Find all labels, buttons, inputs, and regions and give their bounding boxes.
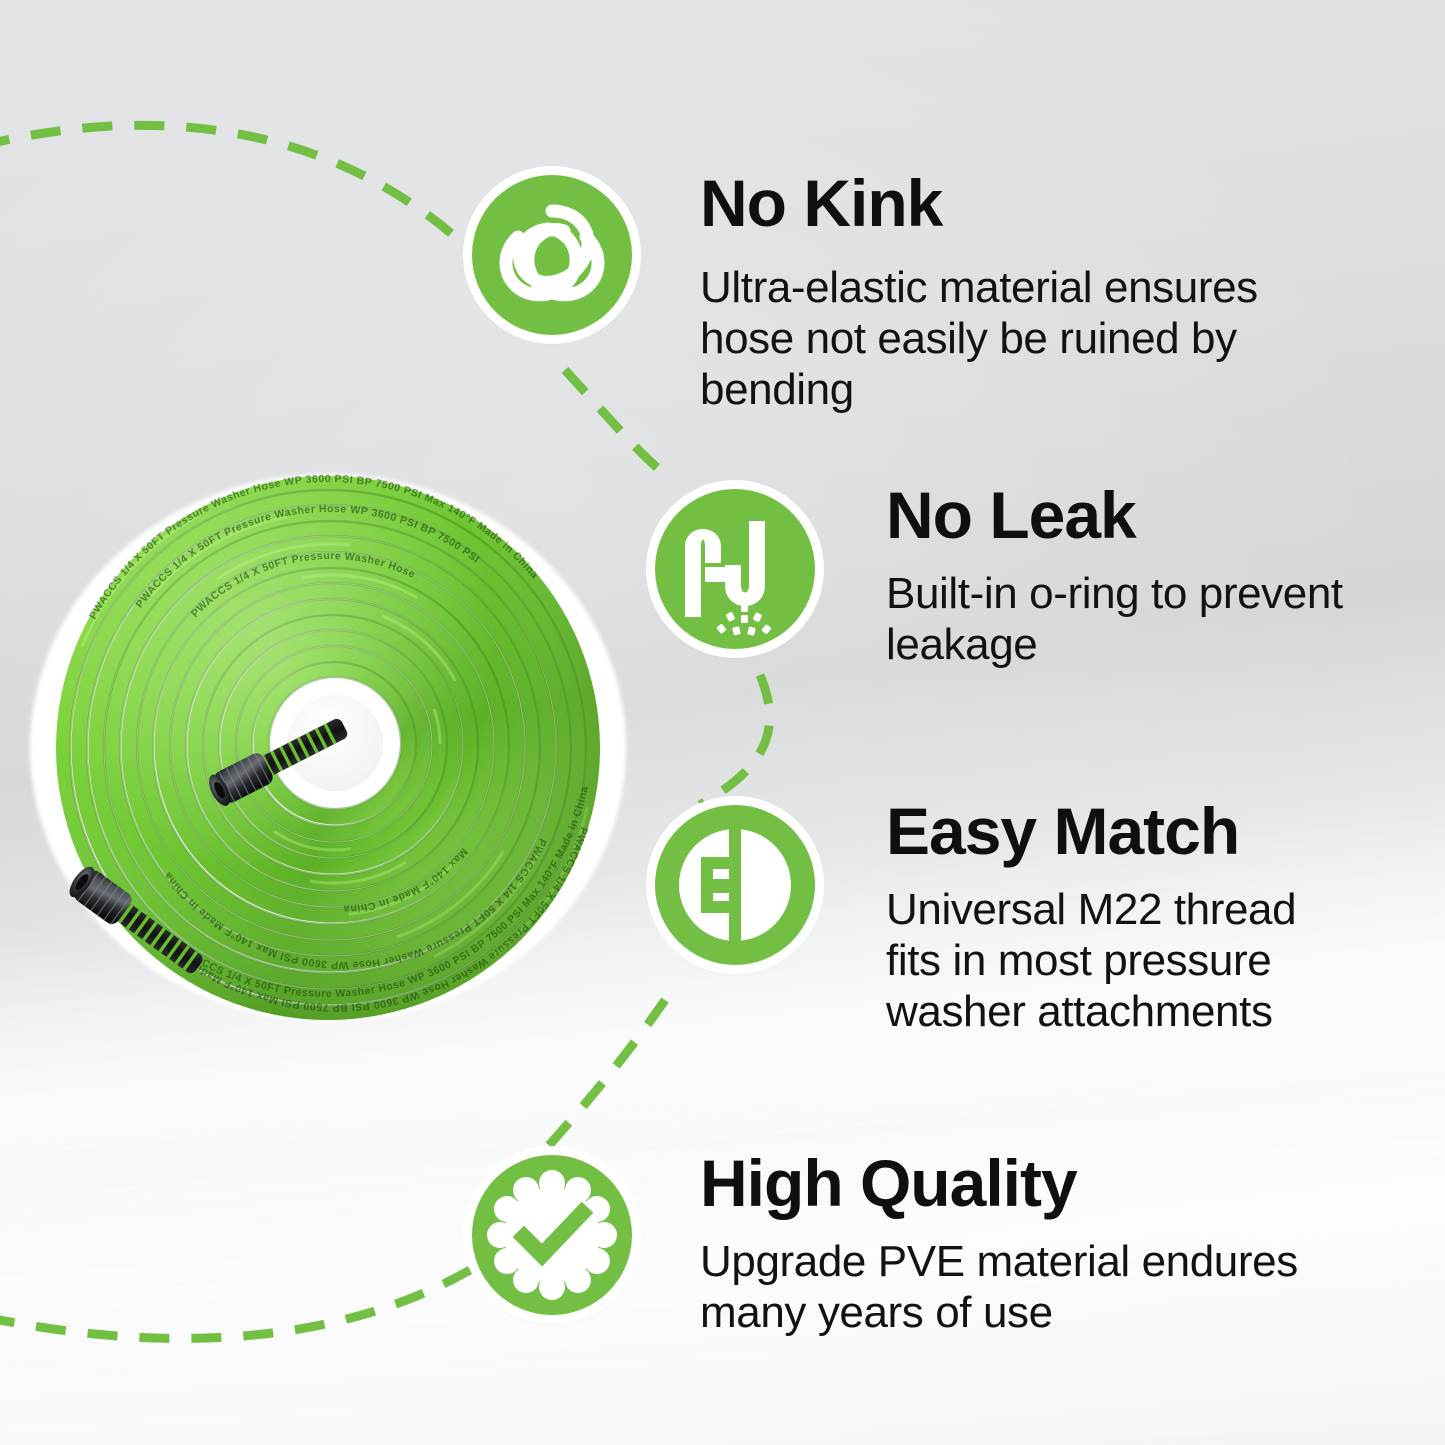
feature-title: High Quality: [700, 1150, 1077, 1216]
hose-coil: PWACCS 1/4 X 50FT Pressure Washer Hose W…: [30, 474, 626, 1022]
hose-fittings: [30, 474, 626, 1022]
feature-body: Built-in o-ring to prevent leakage: [886, 568, 1431, 670]
pipe-drip-icon: [655, 489, 815, 649]
feature-title: No Kink: [700, 170, 942, 236]
product-photo: PWACCS 1/4 X 50FT Pressure Washer Hose W…: [16, 470, 638, 1050]
feature-body: Upgrade PVE material endures many years …: [700, 1236, 1345, 1338]
feature-body: Universal M22 thread fits in most pressu…: [886, 884, 1361, 1037]
feature-title: Easy Match: [886, 798, 1239, 864]
feature-body: Ultra-elastic material ensures hose not …: [700, 262, 1340, 415]
thread-connector-icon: [655, 805, 815, 965]
hose-fitting-inner: [205, 711, 352, 808]
trefoil-knot-icon: [472, 175, 632, 335]
hose-fitting-outer: [65, 863, 209, 981]
product-infographic: PWACCS 1/4 X 50FT Pressure Washer Hose W…: [0, 0, 1445, 1445]
feature-title: No Leak: [886, 482, 1136, 548]
verified-check-badge-icon: [472, 1155, 632, 1315]
